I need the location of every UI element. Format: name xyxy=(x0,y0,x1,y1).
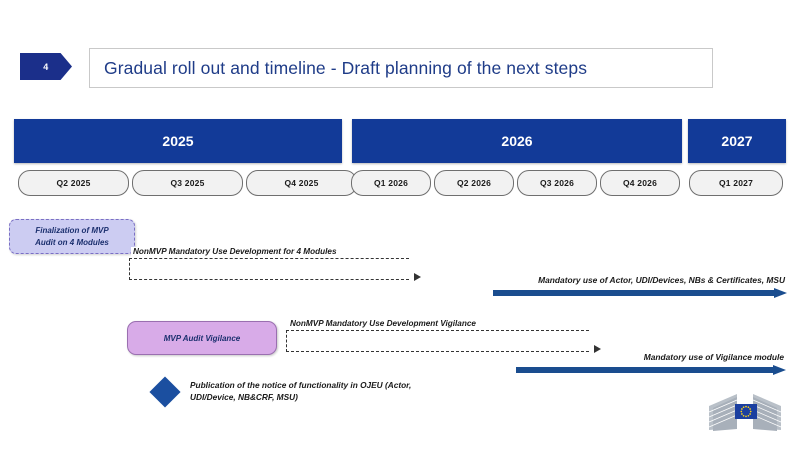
arrow-shaft xyxy=(493,290,775,296)
callout-mvp-audit-vigilance[interactable]: MVP Audit Vigilance xyxy=(127,321,277,355)
callout-line-1: Finalization of MVP xyxy=(35,225,108,237)
blue-arrow-mandatory-actor[interactable]: Mandatory use of Actor, UDI/Devices, NBs… xyxy=(493,288,787,298)
dashed-track-nonmvp-vigilance[interactable]: NonMVP Mandatory Use Development Vigilan… xyxy=(286,330,601,352)
dashed-arrowhead-icon xyxy=(594,345,601,353)
quarter-pill-q2-2026[interactable]: Q2 2026 xyxy=(434,170,514,196)
quarter-pill-q3-2025[interactable]: Q3 2025 xyxy=(132,170,243,196)
quarter-pill-q4-2026[interactable]: Q4 2026 xyxy=(600,170,680,196)
quarter-pill-q2-2025[interactable]: Q2 2025 xyxy=(18,170,129,196)
dashed-arrowhead-icon xyxy=(414,273,421,281)
title-box: Gradual roll out and timeline - Draft pl… xyxy=(89,48,713,88)
milestone-line-1: Publication of the notice of functionali… xyxy=(190,379,480,391)
arrow-head-icon xyxy=(774,288,787,298)
year-bar-2026: 2026 xyxy=(352,119,682,163)
year-bar-2027: 2027 xyxy=(688,119,786,163)
slide-number-badge: 4 xyxy=(20,53,72,80)
blue-arrow-label: Mandatory use of Actor, UDI/Devices, NBs… xyxy=(538,275,785,285)
title-row: 4 Gradual roll out and timeline - Draft … xyxy=(0,24,800,62)
dashed-track-label: NonMVP Mandatory Use Development for 4 M… xyxy=(131,247,339,256)
slide-canvas: 4 Gradual roll out and timeline - Draft … xyxy=(0,0,800,449)
dashed-track-nonmvp-modules[interactable]: NonMVP Mandatory Use Development for 4 M… xyxy=(129,258,421,280)
milestone-line-2: UDI/Device, NB&CRF, MSU) xyxy=(190,391,480,403)
quarter-pill-q1-2027[interactable]: Q1 2027 xyxy=(689,170,783,196)
arrow-head-icon xyxy=(773,365,786,375)
european-commission-logo-icon xyxy=(707,390,785,436)
dashed-bracket-shape xyxy=(286,330,589,352)
quarter-pill-q4-2025[interactable]: Q4 2025 xyxy=(246,170,357,196)
quarter-pill-q3-2026[interactable]: Q3 2026 xyxy=(517,170,597,196)
diamond-milestone-icon xyxy=(149,376,180,407)
callout-line-2: Audit on 4 Modules xyxy=(35,237,109,249)
arrow-shaft xyxy=(516,367,774,373)
dashed-track-label: NonMVP Mandatory Use Development Vigilan… xyxy=(288,319,478,328)
dashed-bracket-shape xyxy=(129,258,409,280)
milestone-label: Publication of the notice of functionali… xyxy=(190,379,480,404)
callout-finalization-mvp-audit[interactable]: Finalization of MVP Audit on 4 Modules xyxy=(9,219,135,254)
blue-arrow-mandatory-vigilance[interactable]: Mandatory use of Vigilance module xyxy=(516,365,786,375)
quarter-pill-q1-2026[interactable]: Q1 2026 xyxy=(351,170,431,196)
page-title: Gradual roll out and timeline - Draft pl… xyxy=(90,58,587,79)
blue-arrow-label: Mandatory use of Vigilance module xyxy=(644,352,784,362)
year-bar-2025: 2025 xyxy=(14,119,342,163)
